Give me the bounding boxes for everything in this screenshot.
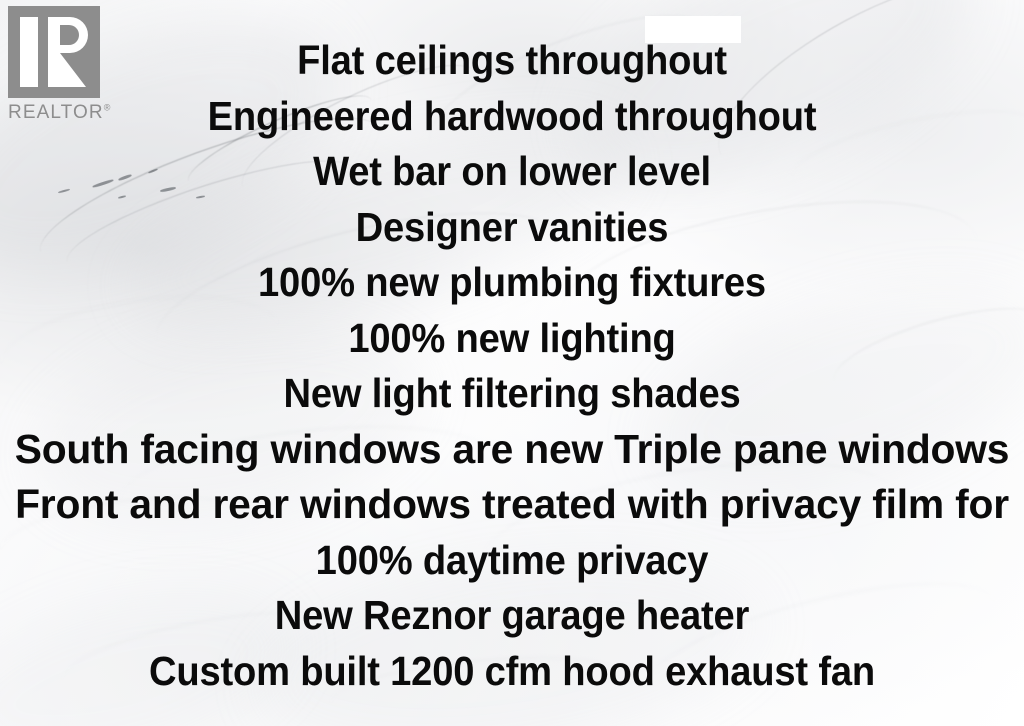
- listing-feature-card: REALTOR® Flat ceilings throughout Engine…: [0, 0, 1024, 726]
- feature-line: 100% new plumbing fixtures: [36, 255, 988, 311]
- feature-line: Custom built 1200 cfm hood exhaust fan: [36, 644, 988, 700]
- feature-line: Flat ceilings throughout: [36, 33, 988, 89]
- realtor-wordmark: REALTOR®: [8, 103, 112, 122]
- white-redaction-patch: [645, 16, 741, 43]
- feature-line: Front and rear windows treated with priv…: [3, 477, 1022, 533]
- feature-line: Designer vanities: [36, 200, 988, 256]
- feature-line: Wet bar on lower level: [36, 144, 988, 200]
- realtor-wordmark-text: REALTOR: [8, 102, 104, 123]
- feature-line: New light filtering shades: [36, 366, 988, 422]
- feature-line: Engineered hardwood throughout: [36, 89, 988, 145]
- feature-line: South facing windows are new Triple pane…: [3, 422, 1022, 478]
- realtor-logo: REALTOR®: [8, 6, 112, 138]
- registered-trademark-icon: ®: [104, 103, 111, 113]
- feature-line: New Reznor garage heater: [36, 588, 988, 644]
- feature-list: Flat ceilings throughout Engineered hard…: [0, 0, 1024, 726]
- realtor-r-mark-icon: [8, 6, 100, 98]
- feature-line: 100% daytime privacy: [36, 533, 988, 589]
- feature-line: 100% new lighting: [36, 311, 988, 367]
